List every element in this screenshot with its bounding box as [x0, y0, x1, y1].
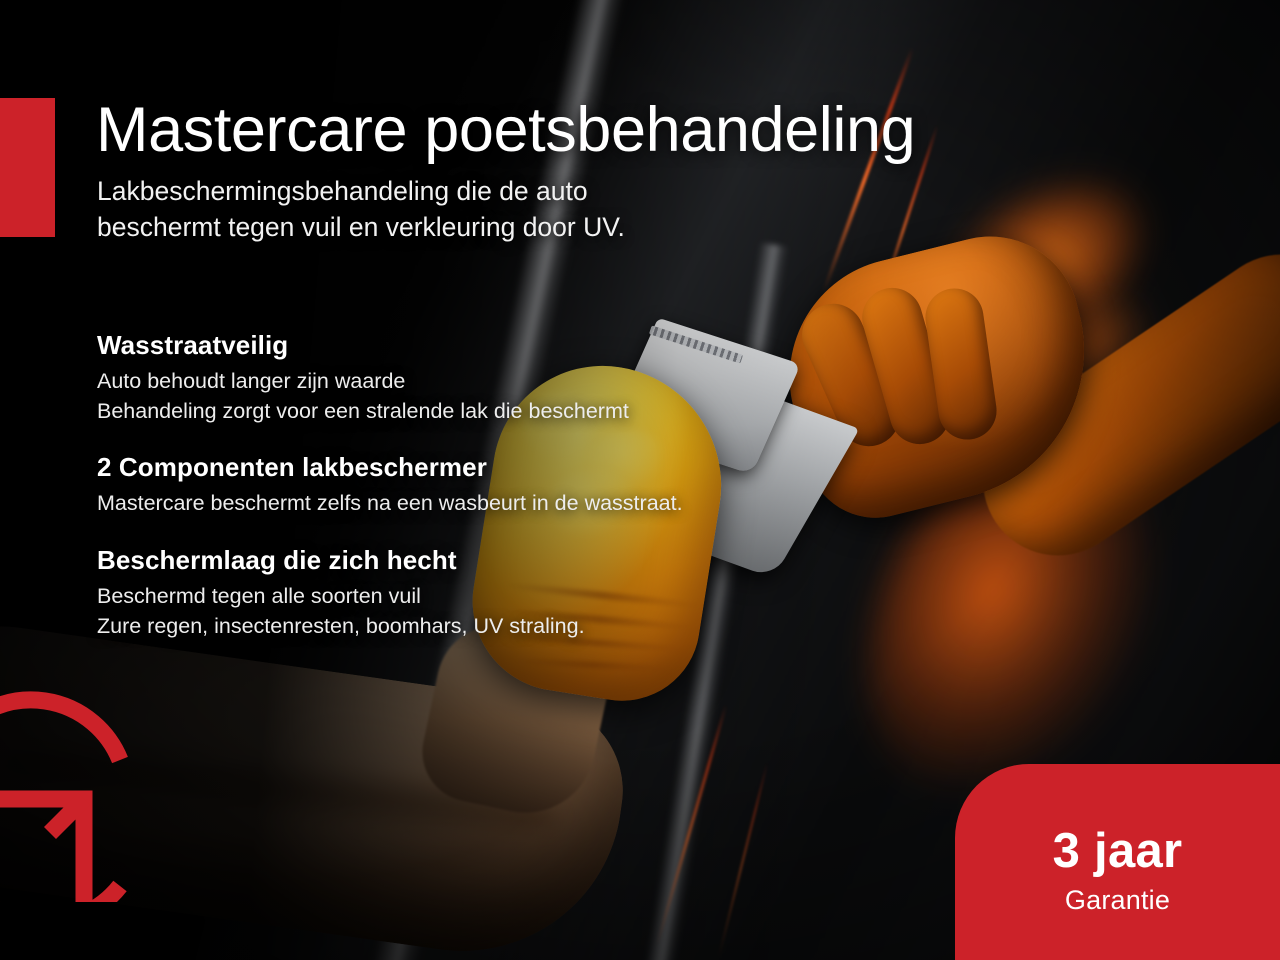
feature-list: Wasstraatveilig Auto behoudt langer zijn… [97, 330, 683, 667]
feature-title: Beschermlaag die zich hecht [97, 545, 683, 576]
guarantee-badge: 3 jaar Garantie [955, 764, 1280, 960]
feature-item: Wasstraatveilig Auto behoudt langer zijn… [97, 330, 683, 426]
guarantee-years: 3 jaar [1053, 827, 1183, 876]
feature-description-line: Behandeling zorgt voor een stralende lak… [97, 397, 683, 427]
feature-item: Beschermlaag die zich hecht Beschermd te… [97, 545, 683, 641]
page-subtitle: Lakbeschermingsbehandeling die de auto b… [97, 174, 625, 246]
red-accent-bar [0, 98, 55, 237]
feature-description-line: Auto behoudt langer zijn waarde [97, 367, 683, 397]
feature-item: 2 Componenten lakbeschermer Mastercare b… [97, 452, 683, 519]
feature-title: 2 Componenten lakbeschermer [97, 452, 683, 483]
page-title: Mastercare poetsbehandeling [96, 94, 915, 166]
feature-description-line: Zure regen, insectenresten, boomhars, UV… [97, 612, 683, 642]
guarantee-label: Garantie [1065, 885, 1170, 916]
page-subtitle-line: Lakbeschermingsbehandeling die de auto [97, 174, 625, 210]
circular-arrow-logo-icon [0, 672, 172, 902]
feature-description-line: Mastercare beschermt zelfs na een wasbeu… [97, 489, 683, 519]
feature-description-line: Beschermd tegen alle soorten vuil [97, 582, 683, 612]
promo-banner: Mastercare poetsbehandeling Lakbeschermi… [0, 0, 1280, 960]
circular-arrow-logo [0, 672, 172, 902]
feature-title: Wasstraatveilig [97, 330, 683, 361]
page-subtitle-line: beschermt tegen vuil en verkleuring door… [97, 210, 625, 246]
